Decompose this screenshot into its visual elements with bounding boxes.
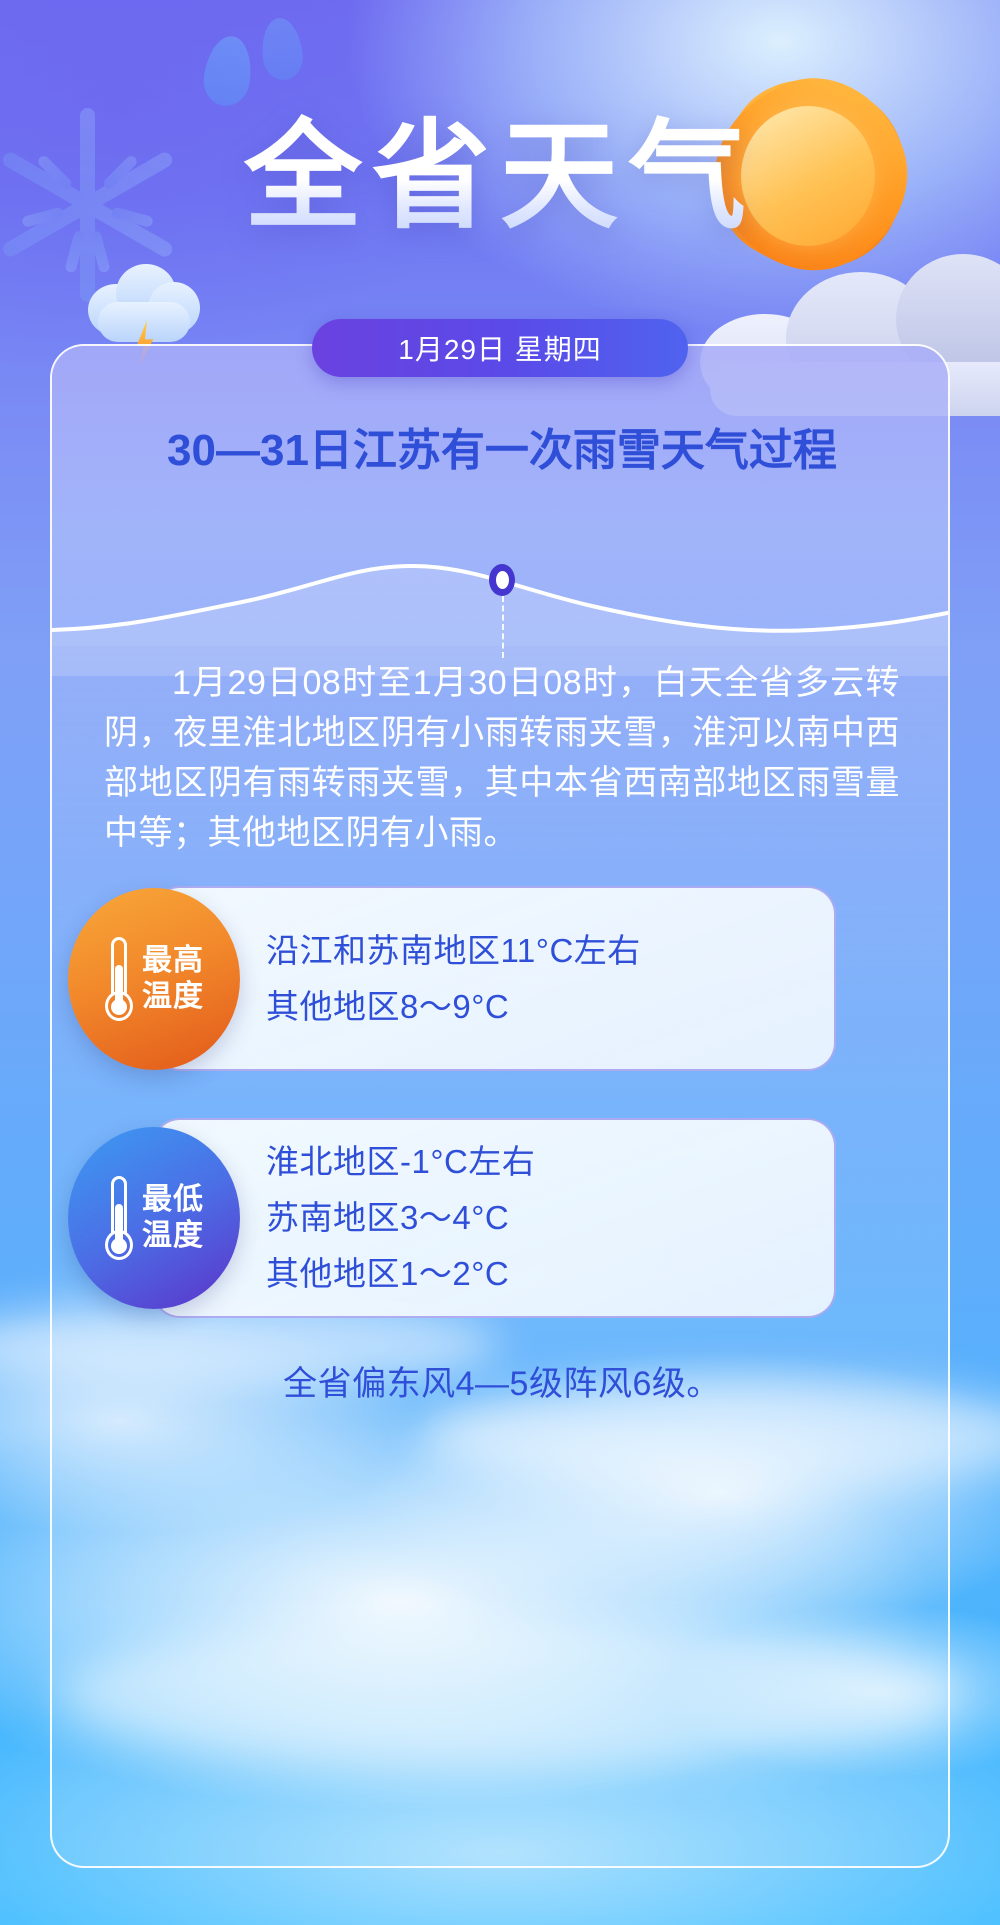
headline: 30—31日江苏有一次雨雪天气过程: [108, 422, 896, 480]
high-temperature-badge-label: 最高 温度: [142, 943, 204, 1015]
thermometer-icon: [104, 1176, 134, 1260]
thermometer-icon: [104, 937, 134, 1021]
forecast-body-text: 1月29日08时至1月30日08时，白天全省多云转阴，夜里淮北地区阴有小雨转雨夹…: [104, 658, 900, 858]
high-temperature-badge: 最高 温度: [68, 888, 240, 1070]
thundercloud-icon: [88, 258, 206, 356]
badge-line-1: 最高: [142, 943, 204, 979]
low-temperature-badge-label: 最低 温度: [142, 1182, 204, 1254]
page-title: 全省天气: [0, 110, 1000, 244]
temperature-line: 淮北地区-1°C左右: [266, 1134, 535, 1190]
low-temperature-card: 最低 温度 淮北地区-1°C左右 苏南地区3～4°C 其他地区1～2°C: [152, 1118, 836, 1318]
temperature-line: 苏南地区3～4°C: [266, 1190, 535, 1246]
wind-forecast-text: 全省偏东风4—5级阵风6级。: [52, 1356, 950, 1405]
timeline-node-icon: [489, 564, 515, 596]
date-badge: 1月29日 星期四: [312, 319, 688, 377]
high-temperature-card: 最高 温度 沿江和苏南地区11°C左右 其他地区8～9°C: [152, 886, 836, 1071]
low-temperature-values: 淮北地区-1°C左右 苏南地区3～4°C 其他地区1～2°C: [266, 1134, 535, 1302]
low-temperature-badge: 最低 温度: [68, 1127, 240, 1309]
timeline-dashed-line: [502, 596, 504, 658]
badge-line-2: 温度: [142, 1218, 204, 1254]
badge-line-1: 最低: [142, 1182, 204, 1218]
temperature-line: 其他地区8～9°C: [266, 979, 641, 1035]
temperature-line: 其他地区1～2°C: [266, 1246, 535, 1302]
temperature-line: 沿江和苏南地区11°C左右: [266, 923, 641, 979]
weather-poster: 全省天气 30—31日江苏有一次雨雪天气过程 1月29日08时至1月30日08时…: [0, 0, 1000, 1925]
weather-card: 30—31日江苏有一次雨雪天气过程 1月29日08时至1月30日08时，白天全省…: [50, 344, 950, 1868]
badge-line-2: 温度: [142, 979, 204, 1015]
high-temperature-values: 沿江和苏南地区11°C左右 其他地区8～9°C: [266, 923, 641, 1035]
